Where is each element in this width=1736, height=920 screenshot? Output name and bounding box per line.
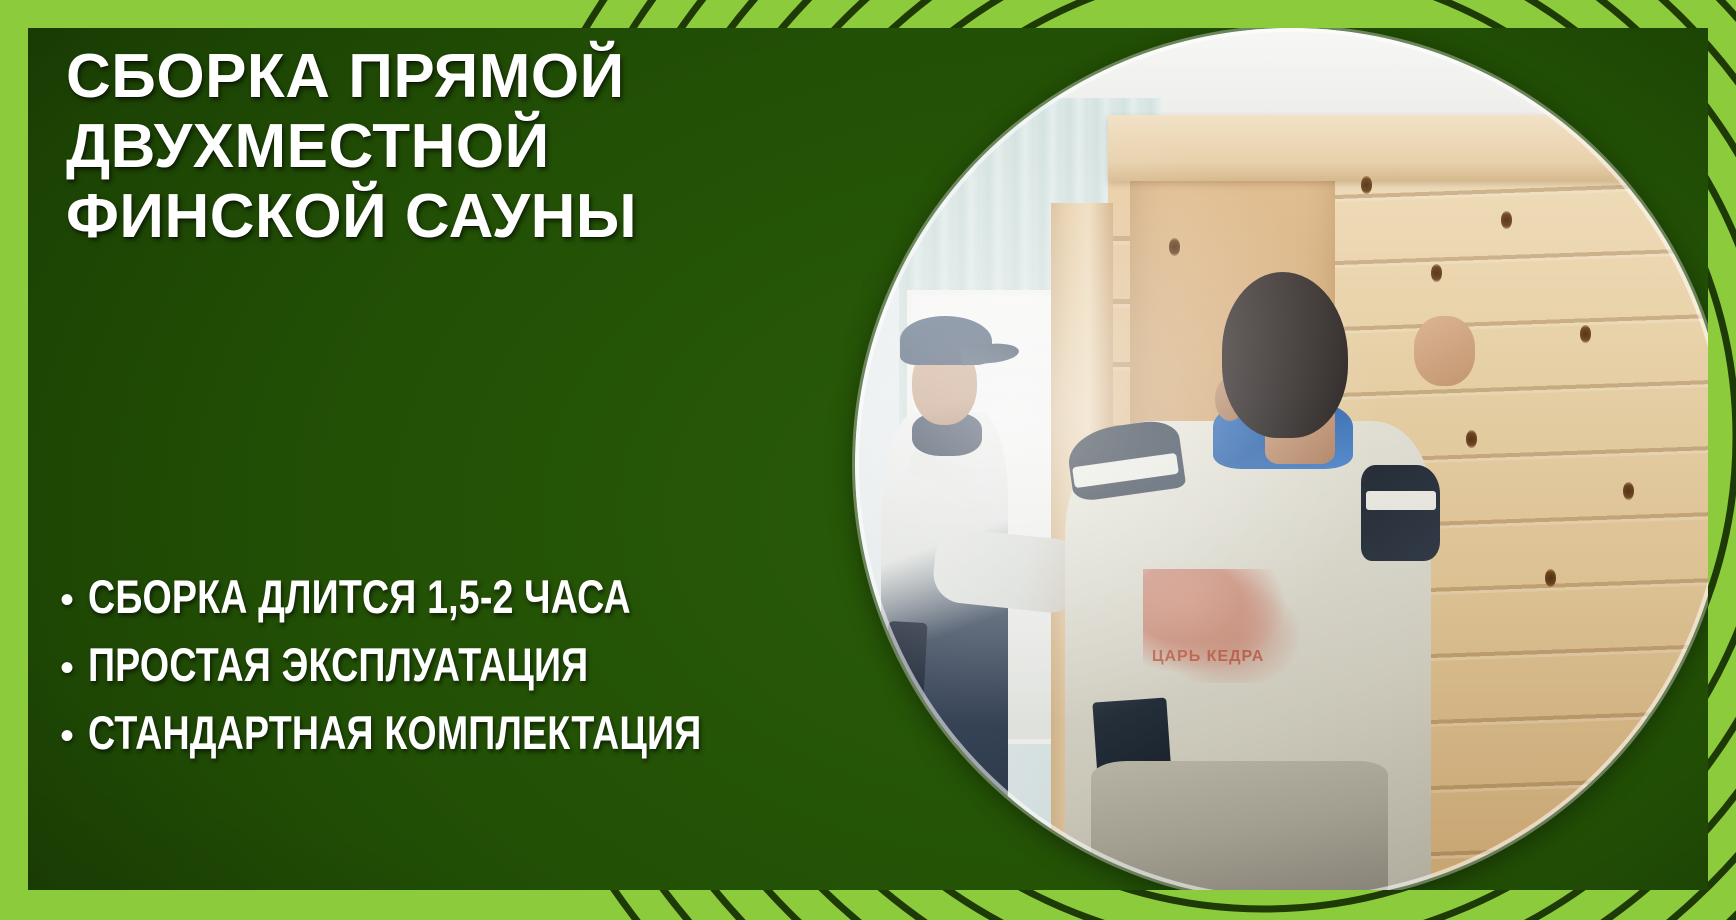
page-title: СБОРКА ПРЯМОЙ ДВУХМЕСТНОЙ ФИНСКОЙ САУНЫ <box>66 42 796 252</box>
bullet-text-1: СБОРКА ДЛИТСЯ 1,5-2 ЧАСА <box>88 573 631 621</box>
sauna-top-beam <box>1108 115 1708 180</box>
wood-knot <box>1169 238 1180 256</box>
wood-knot <box>1545 569 1556 587</box>
bullet-dot-icon: • <box>60 716 74 756</box>
wood-knot <box>1466 430 1477 448</box>
worker-right-hand <box>1414 316 1475 386</box>
headline-line-3: ФИНСКОЙ САУНЫ <box>66 182 796 252</box>
headline-line-1: СБОРКА ПРЯМОЙ <box>66 42 796 112</box>
sauna-assembly-photo: ЦАРЬ КЕДРА <box>855 28 1708 890</box>
list-item: • СТАНДАРТНАЯ КОМПЛЕКТАЦИЯ <box>60 709 910 757</box>
feature-bullet-list: • СБОРКА ДЛИТСЯ 1,5-2 ЧАСА • ПРОСТАЯ ЭКС… <box>60 573 910 777</box>
overalls-logo-text: ЦАРЬ КЕДРА <box>1152 648 1344 692</box>
wood-knot <box>1431 264 1442 282</box>
headline-line-2: ДВУХМЕСТНОЙ <box>66 112 796 182</box>
photo-scene: ЦАРЬ КЕДРА <box>855 28 1708 890</box>
worker-right-side-pad <box>1361 465 1440 561</box>
bullet-text-2: ПРОСТАЯ ЭКСПЛУАТАЦИЯ <box>88 641 588 689</box>
bullet-dot-icon: • <box>60 580 74 620</box>
list-item: • СБОРКА ДЛИТСЯ 1,5-2 ЧАСА <box>60 573 910 621</box>
worker-right-trousers <box>1091 761 1388 890</box>
list-item: • ПРОСТАЯ ЭКСПЛУАТАЦИЯ <box>60 641 910 689</box>
worker-right-head <box>1222 272 1349 438</box>
dark-green-panel: СБОРКА ПРЯМОЙ ДВУХМЕСТНОЙ ФИНСКОЙ САУНЫ … <box>28 28 1708 890</box>
wood-knot <box>1580 325 1591 343</box>
worker-left-pocket <box>883 621 927 719</box>
worker-right-side-stripe <box>1366 491 1436 510</box>
promo-banner: СБОРКА ПРЯМОЙ ДВУХМЕСТНОЙ ФИНСКОЙ САУНЫ … <box>0 0 1736 920</box>
bullet-text-3: СТАНДАРТНАЯ КОМПЛЕКТАЦИЯ <box>88 709 701 757</box>
bullet-dot-icon: • <box>60 648 74 688</box>
